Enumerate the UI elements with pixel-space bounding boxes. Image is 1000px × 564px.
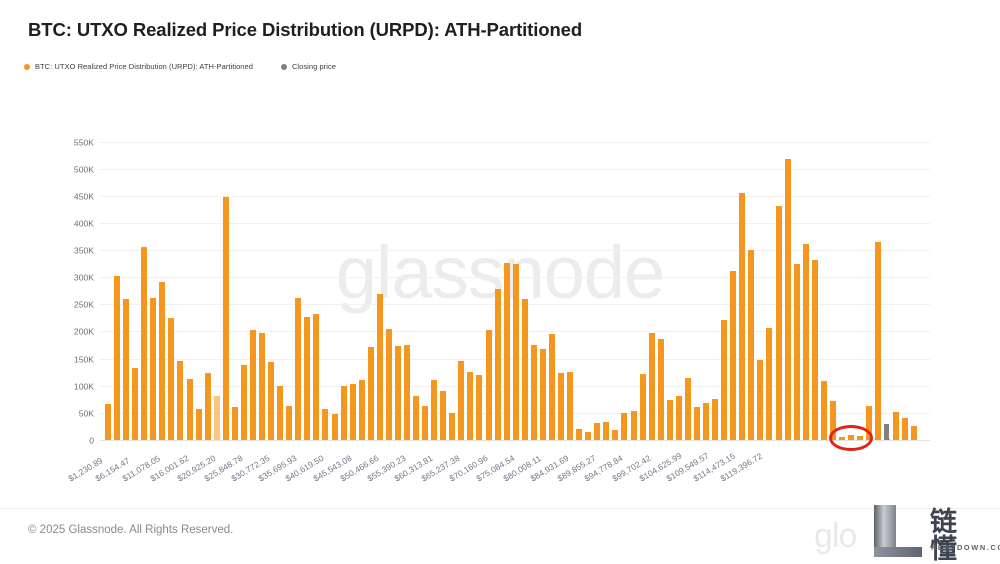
chart-bar[interactable] [621,413,627,440]
chart-bar[interactable] [350,384,356,440]
chart-bar[interactable] [150,298,156,440]
chart-bar[interactable] [422,406,428,440]
chart-bar[interactable] [214,396,220,440]
chart-bar[interactable] [368,347,374,440]
chart-bar[interactable] [667,400,673,440]
chart-bar[interactable] [776,206,782,440]
chart-bar[interactable] [313,314,319,440]
chart-bar[interactable] [196,409,202,440]
chart-bar[interactable] [830,401,836,440]
y-axis-tick-label: 0 [48,436,94,446]
chart-bar[interactable] [848,435,854,440]
chart-bar[interactable] [531,345,537,440]
y-axis-tick-label: 500K [48,164,94,174]
chart-bar[interactable] [467,372,473,440]
chart-bar[interactable] [676,396,682,440]
chart-bar[interactable] [730,271,736,440]
chart-bar[interactable] [458,361,464,440]
y-axis-tick-label: 200K [48,327,94,337]
chart-bar[interactable] [594,423,600,440]
x-axis-baseline [100,440,930,441]
y-axis-tick-label: 250K [48,300,94,310]
chart-bar[interactable] [558,373,564,440]
chart-bar[interactable] [785,159,791,440]
chart-bar[interactable] [304,317,310,440]
chart-bar[interactable] [132,368,138,440]
chart-bar[interactable] [712,399,718,440]
chart-bar[interactable] [268,362,274,440]
chart-bar[interactable] [567,372,573,440]
chart-bar[interactable] [322,409,328,440]
chart-bar[interactable] [431,380,437,440]
y-axis-tick-label: 450K [48,191,94,201]
closing-price-marker[interactable] [884,424,889,440]
chart-bar[interactable] [177,361,183,440]
chart-bar[interactable] [694,407,700,440]
chart-plot-area: glassnode 050K100K150K200K250K300K350K40… [0,0,1000,563]
chart-bar[interactable] [640,374,646,440]
chart-bar[interactable] [105,404,111,440]
chart-bar[interactable] [404,345,410,440]
y-axis-tick-label: 50K [48,408,94,418]
chart-bar[interactable] [395,346,401,440]
y-axis-tick-label: 400K [48,218,94,228]
chart-bar[interactable] [703,403,709,440]
chart-bar[interactable] [413,396,419,440]
brand-name-cn: 链懂 [930,509,982,563]
bar-series [100,128,930,440]
chart-bar[interactable] [205,373,211,440]
chart-bar[interactable] [513,264,519,440]
chart-bar[interactable] [612,430,618,440]
chart-bar[interactable] [794,264,800,440]
chart-bar[interactable] [649,333,655,440]
chart-bar[interactable] [803,244,809,440]
chart-bar[interactable] [631,411,637,440]
chart-card: BTC: UTXO Realized Price Distribution (U… [0,0,1000,563]
chart-bar[interactable] [476,375,482,440]
chart-bar[interactable] [168,318,174,440]
y-axis-tick-label: 550K [48,137,94,147]
chart-bar[interactable] [123,299,129,440]
chart-bar[interactable] [295,298,301,440]
chart-bar[interactable] [757,360,763,440]
chart-bar[interactable] [386,329,392,440]
chart-bar[interactable] [286,406,292,440]
chart-bar[interactable] [739,193,745,440]
chart-bar[interactable] [522,299,528,440]
chart-bar[interactable] [250,330,256,440]
chart-bar[interactable] [504,263,510,440]
chart-bar[interactable] [141,247,147,440]
y-axis-tick-label: 150K [48,354,94,364]
chart-bar[interactable] [187,379,193,440]
chart-bar[interactable] [549,334,555,440]
chart-bar[interactable] [440,391,446,440]
chart-bar[interactable] [721,320,727,440]
chart-bar[interactable] [603,422,609,440]
chart-bar[interactable] [332,414,338,440]
chart-bar[interactable] [223,197,229,440]
chart-bar[interactable] [685,378,691,440]
chart-bar[interactable] [114,276,120,440]
chart-bar[interactable] [902,418,908,440]
chart-bar[interactable] [377,294,383,441]
chart-bar[interactable] [821,381,827,440]
chart-bar[interactable] [277,386,283,440]
chart-bar[interactable] [241,365,247,440]
chart-bar[interactable] [911,426,917,440]
chart-bar[interactable] [866,406,872,440]
x-axis-labels: $1,230.89$6,154.47$11,078.05$16,001.62$2… [100,443,940,503]
neatdown-watermark: glo 链懂 NEATDOWN.COM [814,503,982,561]
chart-bar[interactable] [875,242,881,440]
chart-bar[interactable] [259,333,265,440]
chart-bar[interactable] [449,413,455,440]
chart-bar[interactable] [585,432,591,440]
glassnode-ghost-text: glo [814,517,856,556]
chart-bar[interactable] [839,437,845,440]
chart-bar[interactable] [232,407,238,440]
chart-bar[interactable] [893,412,899,440]
chart-bar[interactable] [159,282,165,440]
chart-bar[interactable] [540,349,546,440]
chart-bar[interactable] [812,260,818,440]
chart-bar[interactable] [341,386,347,440]
chart-bar[interactable] [359,380,365,440]
y-axis-tick-label: 100K [48,381,94,391]
y-axis-tick-label: 350K [48,246,94,256]
chart-bar[interactable] [658,339,664,440]
chart-bar[interactable] [576,429,582,440]
y-axis-tick-label: 300K [48,273,94,283]
chart-bar[interactable] [857,436,863,440]
chart-bar[interactable] [495,289,501,440]
chart-bar[interactable] [486,330,492,440]
footer-copyright: © 2025 Glassnode. All Rights Reserved. [28,524,233,536]
brand-l-logo-icon [870,505,924,557]
chart-bar[interactable] [766,328,772,440]
brand-domain: NEATDOWN.COM [931,543,1000,552]
chart-bar[interactable] [748,250,754,440]
